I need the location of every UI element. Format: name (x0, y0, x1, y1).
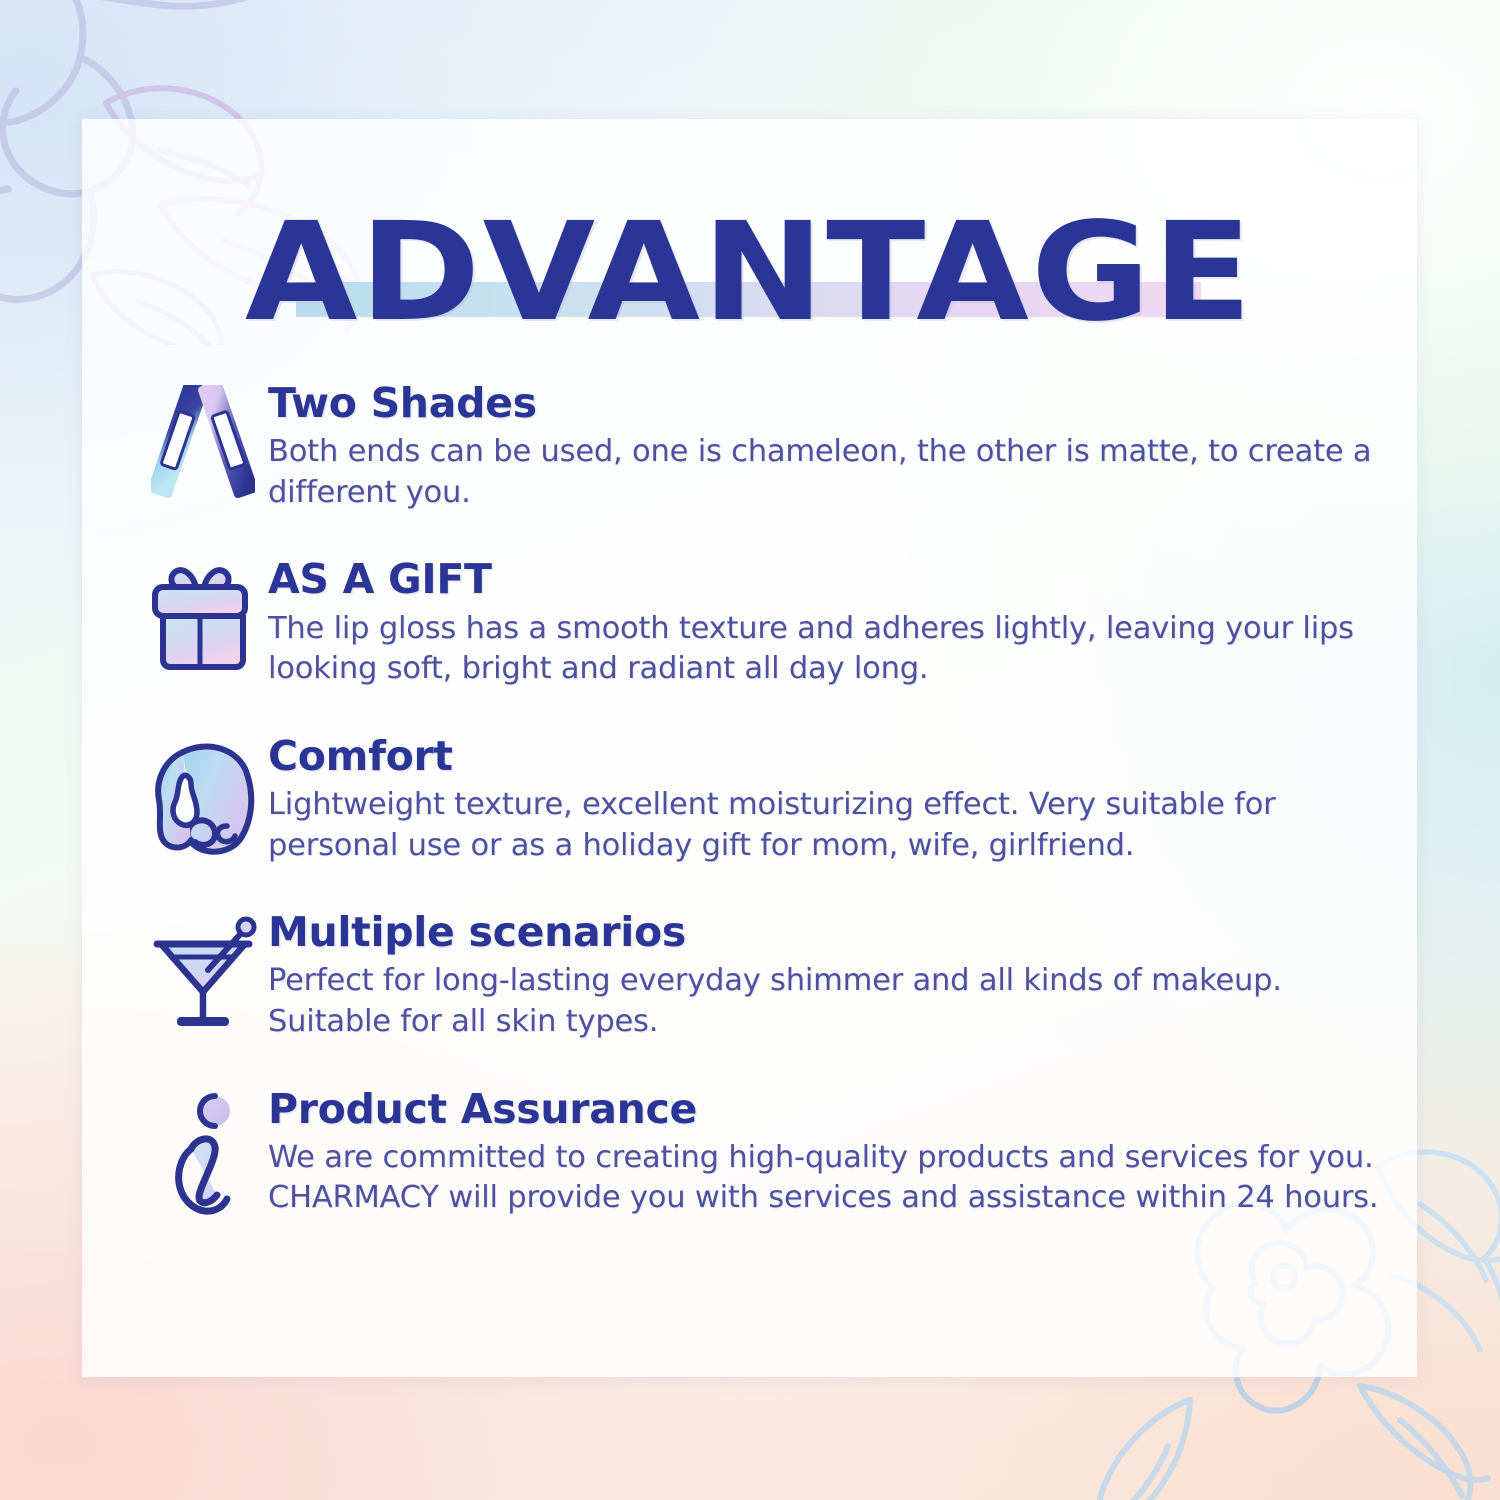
feature-title: Product Assurance (268, 1087, 1387, 1131)
feature-item-comfort: Comfort Lightweight texture, excellent m… (138, 734, 1387, 866)
info-italic-i-icon (155, 1091, 251, 1219)
feature-title: AS A GIFT (268, 557, 1387, 601)
feature-item-two-shades: Two Shades Both ends can be used, one is… (138, 381, 1387, 513)
feature-item-product-assurance: Product Assurance We are committed to cr… (138, 1087, 1387, 1219)
feature-icon-cell (138, 381, 268, 511)
crossed-lipsticks-icon (151, 385, 255, 511)
feature-description: Perfect for long-lasting everyday shimme… (268, 961, 1387, 1042)
feature-description: Lightweight texture, excellent moisturiz… (268, 785, 1387, 866)
content-card: ADVANTAGE (82, 119, 1417, 1377)
cocktail-glass-icon (148, 914, 258, 1036)
feature-list: Two Shades Both ends can be used, one is… (138, 381, 1387, 1219)
feature-text-cell: Comfort Lightweight texture, excellent m… (268, 734, 1387, 866)
feature-icon-cell (138, 1087, 268, 1219)
feature-text-cell: Multiple scenarios Perfect for long-last… (268, 910, 1387, 1042)
page-title-wrapper: ADVANTAGE (82, 205, 1417, 341)
feature-icon-cell (138, 910, 268, 1036)
feature-item-multiple-scenarios: Multiple scenarios Perfect for long-last… (138, 910, 1387, 1042)
woman-hair-profile-icon (147, 738, 259, 858)
feature-description: Both ends can be used, one is chameleon,… (268, 432, 1387, 513)
feature-text-cell: Product Assurance We are committed to cr… (268, 1087, 1387, 1219)
feature-item-as-a-gift: AS A GIFT The lip gloss has a smooth tex… (138, 557, 1387, 689)
feature-description: The lip gloss has a smooth texture and a… (268, 609, 1387, 690)
feature-icon-cell (138, 734, 268, 858)
feature-title: Two Shades (268, 381, 1387, 425)
page-title: ADVANTAGE (35, 205, 1463, 341)
advantage-poster: ADVANTAGE (0, 0, 1500, 1500)
gift-box-icon (149, 561, 257, 673)
feature-title: Comfort (268, 734, 1387, 778)
feature-description: We are committed to creating high-qualit… (268, 1138, 1387, 1219)
feature-text-cell: AS A GIFT The lip gloss has a smooth tex… (268, 557, 1387, 689)
feature-icon-cell (138, 557, 268, 673)
feature-text-cell: Two Shades Both ends can be used, one is… (268, 381, 1387, 513)
feature-title: Multiple scenarios (268, 910, 1387, 954)
